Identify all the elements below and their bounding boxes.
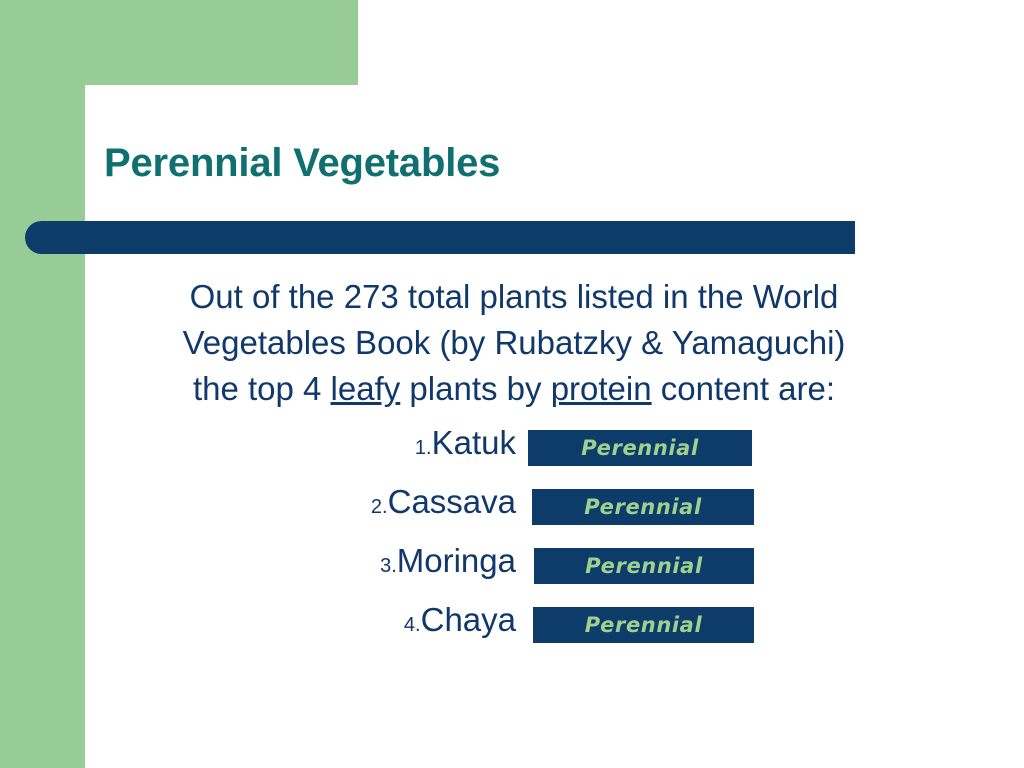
list-item-name: Moringa [397,542,516,579]
list-item: 3.Moringa Perennial [250,542,790,601]
list-item-label: 3.Moringa [250,542,516,580]
body-underline-protein: protein [551,370,652,407]
green-top-block [0,0,358,85]
status-badge-label: Perennial [581,436,699,460]
green-side-strip [0,0,85,768]
list-item-number: 3. [380,555,397,577]
list-item-number: 4. [404,614,421,636]
list-item: 1.Katuk Perennial [250,424,790,483]
list-item-name: Cassava [388,483,516,520]
body-paragraph: Out of the 273 total plants listed in th… [95,274,933,412]
body-line-3: the top 4 leafy plants by protein conten… [95,366,933,412]
list-item-name: Chaya [421,601,516,638]
plant-list: 1.Katuk Perennial 2.Cassava Perennial 3.… [250,424,790,660]
list-item-number: 2. [371,496,388,518]
body-line-2: Vegetables Book (by Rubatzky & Yamaguchi… [95,320,933,366]
list-item-label: 1.Katuk [250,424,516,462]
status-badge-label: Perennial [585,613,703,637]
body-line-3-part-c: content are: [652,370,835,407]
status-badge: Perennial [534,548,754,584]
list-item-name: Katuk [432,424,516,461]
status-badge-label: Perennial [584,495,702,519]
body-underline-leafy: leafy [331,370,401,407]
body-line-1: Out of the 273 total plants listed in th… [95,274,933,320]
list-item-number: 1. [415,437,432,459]
list-item-label: 2.Cassava [250,483,516,521]
page-title: Perennial Vegetables [104,141,500,186]
status-badge: Perennial [532,489,754,525]
body-line-3-part-a: the top 4 [193,370,331,407]
body-line-3-part-b: plants by [400,370,550,407]
status-badge-label: Perennial [585,554,703,578]
status-badge: Perennial [528,430,752,466]
status-badge: Perennial [533,607,754,643]
slide-canvas: Perennial Vegetables Out of the 273 tota… [0,0,1024,768]
list-item: 4.Chaya Perennial [250,601,790,660]
navy-divider-bar [25,221,855,254]
list-item-label: 4.Chaya [250,601,516,639]
list-item: 2.Cassava Perennial [250,483,790,542]
